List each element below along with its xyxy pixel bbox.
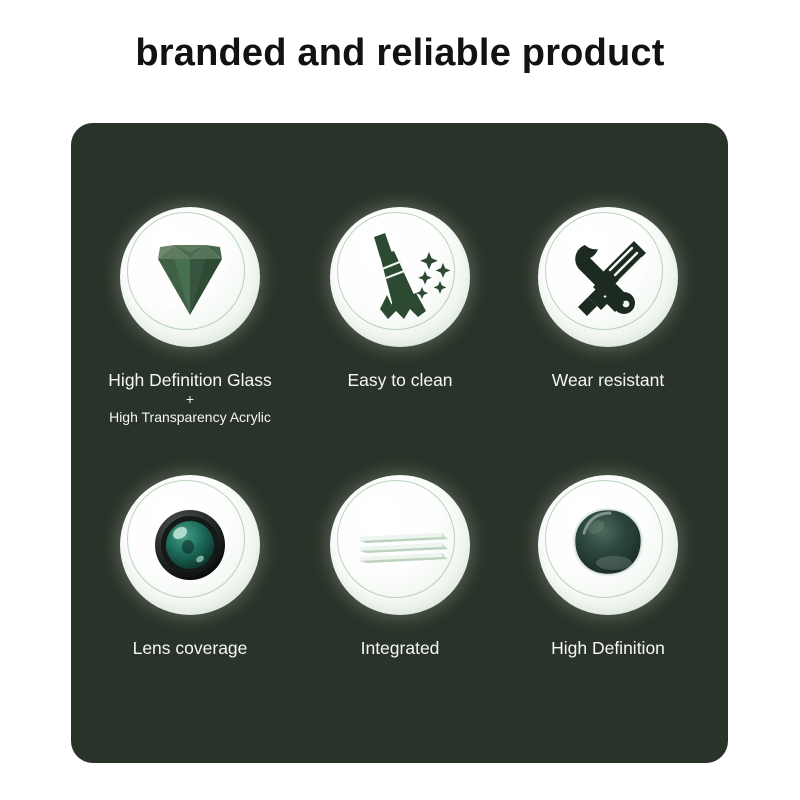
feature-item-high-definition[interactable]: High Definition xyxy=(508,475,708,659)
icon-circle xyxy=(538,207,678,347)
glass-layers-icon xyxy=(330,475,470,615)
feature-label: Lens coverage xyxy=(90,637,290,659)
page-title: branded and reliable product xyxy=(0,30,800,76)
wrench-screwdriver-icon xyxy=(538,207,678,347)
page-root: branded and reliable product xyxy=(0,0,800,800)
feature-item-high-definition-glass[interactable]: High Definition Glass + High Transparenc… xyxy=(60,207,320,427)
feature-label: High Definition Glass xyxy=(60,369,320,391)
camera-lens-icon xyxy=(120,475,260,615)
feature-item-wear-resistant[interactable]: Wear resistant xyxy=(508,207,708,391)
icon-circle xyxy=(330,207,470,347)
feature-item-lens-coverage[interactable]: Lens coverage xyxy=(90,475,290,659)
feature-card: High Definition Glass + High Transparenc… xyxy=(71,123,728,763)
icon-circle xyxy=(120,475,260,615)
feature-grid: High Definition Glass + High Transparenc… xyxy=(71,123,728,763)
feature-item-integrated[interactable]: Integrated xyxy=(300,475,500,659)
feature-plus-separator: + xyxy=(60,391,320,408)
feature-label: Easy to clean xyxy=(300,369,500,391)
icon-circle xyxy=(538,475,678,615)
feature-label: Integrated xyxy=(300,637,500,659)
icon-circle xyxy=(330,475,470,615)
feature-label: Wear resistant xyxy=(508,369,708,391)
water-droplet-icon xyxy=(538,475,678,615)
feature-sublabel: High Transparency Acrylic xyxy=(60,408,320,427)
icon-circle xyxy=(120,207,260,347)
feature-label: High Definition xyxy=(508,637,708,659)
diamond-icon xyxy=(120,207,260,347)
broom-sparkle-icon xyxy=(330,207,470,347)
feature-item-easy-to-clean[interactable]: Easy to clean xyxy=(300,207,500,391)
